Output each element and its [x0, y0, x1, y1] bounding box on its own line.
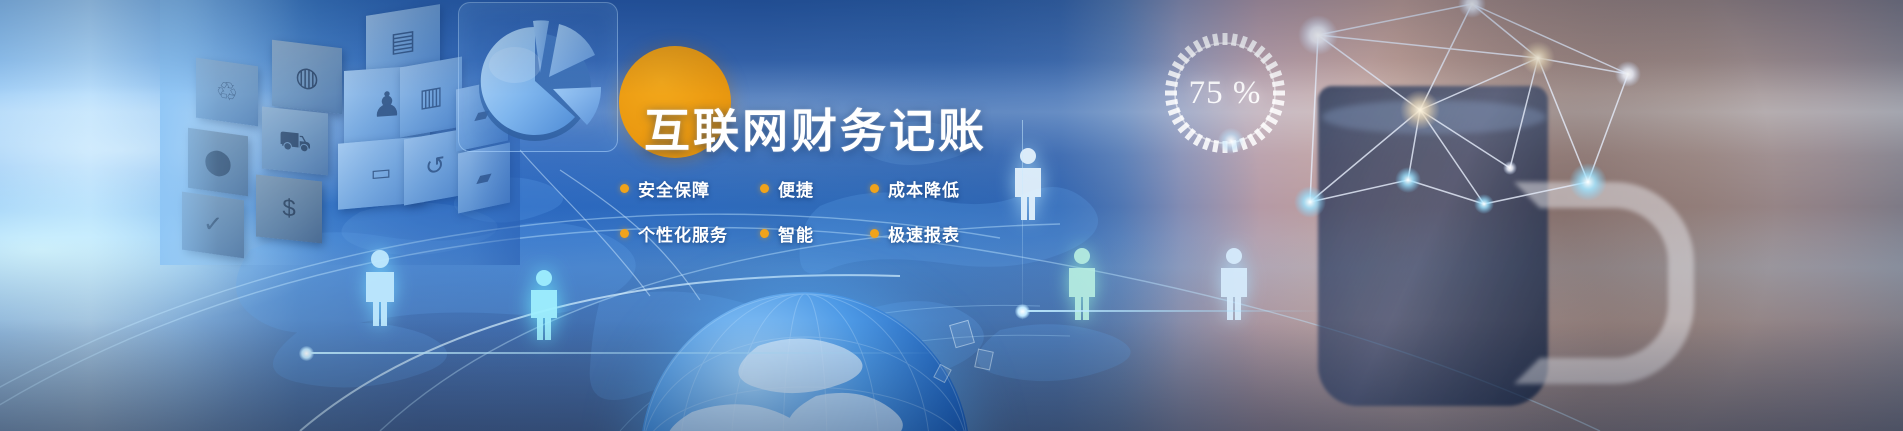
feature-label: 极速报表: [888, 221, 960, 246]
baseline-left-rule: [306, 352, 946, 354]
baseline-left-node: [299, 346, 314, 361]
person-figure-right-a: [1062, 246, 1102, 320]
network-graph: [1270, 0, 1670, 210]
gauge-spark-glow: [1218, 128, 1244, 154]
person-figure-midleft: [524, 268, 564, 340]
feature-item-fast-report: 极速报表: [870, 221, 990, 246]
baseline-right-rule: [1022, 310, 1322, 312]
globe-landmasses: [640, 292, 970, 431]
network-graph-svg: [1270, 0, 1670, 210]
feature-label: 安全保障: [638, 176, 710, 201]
bullet-dot-icon: [620, 229, 629, 238]
baseline-right: [1022, 310, 1322, 312]
feature-label: 智能: [778, 221, 814, 246]
page-title: 互联网财务记账: [644, 108, 987, 154]
feature-list: 安全保障 便捷 成本降低 个性化服务 智能 极速报表: [620, 166, 990, 256]
feature-label: 个性化服务: [638, 221, 728, 246]
feature-item-intelligent: 智能: [760, 221, 870, 246]
baseline-left: [306, 352, 946, 354]
feature-item-security: 安全保障: [620, 176, 760, 201]
bullet-dot-icon: [620, 184, 629, 193]
feature-label: 便捷: [778, 176, 814, 201]
pie-chart-panel: [458, 2, 618, 152]
globe-graphic: [640, 292, 970, 431]
pie-chart: [465, 5, 615, 151]
bullet-dot-icon: [760, 184, 769, 193]
mug-handle: [1514, 182, 1694, 384]
person-figure-left: [358, 248, 402, 326]
feature-label: 成本降低: [888, 176, 960, 201]
person-figure-right-b: [1214, 246, 1254, 320]
feature-item-convenient: 便捷: [760, 176, 870, 201]
feature-item-personalized: 个性化服务: [620, 221, 760, 246]
speck-b: [974, 349, 994, 371]
bullet-dot-icon: [870, 184, 879, 193]
banner-text-block: 互联网财务记账 安全保障 便捷 成本降低 个性化服务 智能: [620, 100, 1040, 260]
promo-banner: ▤ ◍ ♲ ♟ ▥ ⛟ ⬤ ▭ ↺ $ ✓ ▰: [0, 0, 1903, 431]
feature-item-cost-down: 成本降低: [870, 176, 990, 201]
globe-sphere: [640, 292, 970, 431]
bullet-dot-icon: [760, 229, 769, 238]
bullet-dot-icon: [870, 229, 879, 238]
